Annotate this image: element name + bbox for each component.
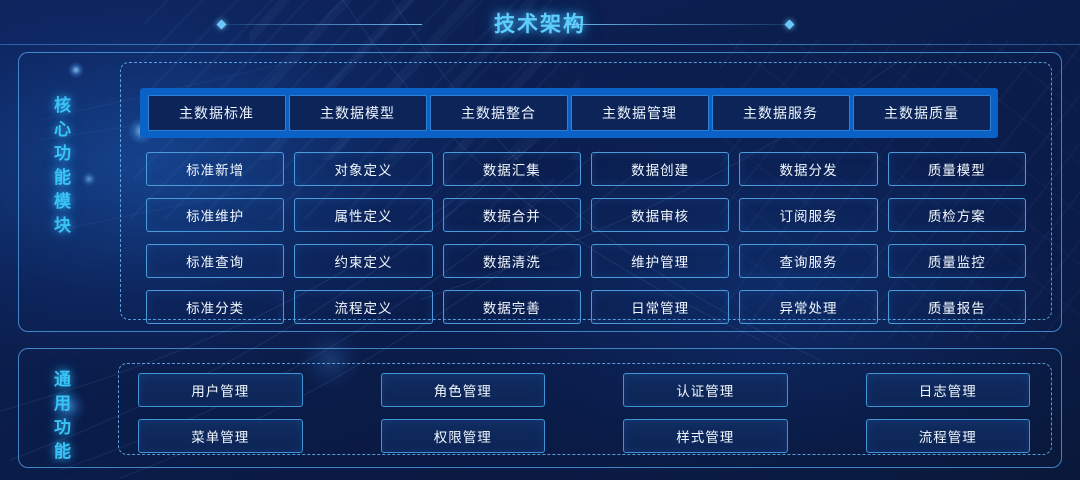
master-cell-wrap: 主数据管理 bbox=[569, 95, 710, 131]
function-cell[interactable]: 数据分发 bbox=[739, 152, 877, 186]
page-title: 技术架构 bbox=[494, 8, 586, 38]
master-cell-wrap: 主数据整合 bbox=[428, 95, 569, 131]
function-cell[interactable]: 属性定义 bbox=[294, 198, 432, 232]
core-functions-label: 核心功能模块 bbox=[52, 96, 69, 240]
function-cell[interactable]: 数据审核 bbox=[591, 198, 729, 232]
master-cell-wrap: 主数据服务 bbox=[710, 95, 851, 131]
function-cell[interactable]: 对象定义 bbox=[294, 152, 432, 186]
master-cell-wrap: 主数据模型 bbox=[287, 95, 428, 131]
title-dot-left bbox=[217, 20, 227, 30]
title-dot-right bbox=[785, 20, 795, 30]
header-divider bbox=[0, 44, 1080, 45]
function-cell[interactable]: 质量模型 bbox=[888, 152, 1026, 186]
function-cell[interactable]: 标准分类 bbox=[146, 290, 284, 324]
general-cell[interactable]: 菜单管理 bbox=[138, 419, 303, 453]
function-cell[interactable]: 数据创建 bbox=[591, 152, 729, 186]
master-data-bar: 主数据标准 主数据模型 主数据整合 主数据管理 主数据服务 主数据质量 bbox=[140, 88, 998, 138]
function-cell[interactable]: 质量监控 bbox=[888, 244, 1026, 278]
title-rule-right bbox=[566, 24, 788, 25]
function-cell[interactable]: 标准新增 bbox=[146, 152, 284, 186]
function-cell[interactable]: 数据完善 bbox=[443, 290, 581, 324]
function-cell[interactable]: 数据合并 bbox=[443, 198, 581, 232]
master-cell-quality[interactable]: 主数据质量 bbox=[853, 95, 991, 131]
master-cell-wrap: 主数据标准 bbox=[146, 95, 287, 131]
function-cell[interactable]: 订阅服务 bbox=[739, 198, 877, 232]
diagram-header: 技术架构 bbox=[0, 0, 1080, 45]
function-cell[interactable]: 数据清洗 bbox=[443, 244, 581, 278]
master-cell-management[interactable]: 主数据管理 bbox=[571, 95, 709, 131]
master-cell-integration[interactable]: 主数据整合 bbox=[430, 95, 568, 131]
technical-architecture-diagram: 技术架构 核心功能模块 主数据标准 主数据模型 主数据整合 主数据管理 主数据服… bbox=[0, 0, 1080, 480]
general-functions-label: 通用功能 bbox=[52, 370, 69, 466]
general-cell[interactable]: 流程管理 bbox=[866, 419, 1031, 453]
core-functions-grid: 标准新增 对象定义 数据汇集 数据创建 数据分发 质量模型 标准维护 属性定义 … bbox=[146, 152, 1026, 324]
function-cell[interactable]: 维护管理 bbox=[591, 244, 729, 278]
title-rule-left bbox=[222, 24, 422, 25]
master-cell-model[interactable]: 主数据模型 bbox=[289, 95, 427, 131]
function-cell[interactable]: 标准维护 bbox=[146, 198, 284, 232]
general-cell[interactable]: 角色管理 bbox=[381, 373, 546, 407]
function-cell[interactable]: 约束定义 bbox=[294, 244, 432, 278]
general-cell[interactable]: 样式管理 bbox=[623, 419, 788, 453]
general-cell[interactable]: 用户管理 bbox=[138, 373, 303, 407]
function-cell[interactable]: 标准查询 bbox=[146, 244, 284, 278]
general-cell[interactable]: 认证管理 bbox=[623, 373, 788, 407]
function-cell[interactable]: 质量报告 bbox=[888, 290, 1026, 324]
function-cell[interactable]: 数据汇集 bbox=[443, 152, 581, 186]
master-cell-standard[interactable]: 主数据标准 bbox=[148, 95, 286, 131]
general-cell[interactable]: 权限管理 bbox=[381, 419, 546, 453]
function-cell[interactable]: 异常处理 bbox=[739, 290, 877, 324]
function-cell[interactable]: 质检方案 bbox=[888, 198, 1026, 232]
function-cell[interactable]: 查询服务 bbox=[739, 244, 877, 278]
function-cell[interactable]: 流程定义 bbox=[294, 290, 432, 324]
master-cell-wrap: 主数据质量 bbox=[851, 95, 992, 131]
general-cell[interactable]: 日志管理 bbox=[866, 373, 1031, 407]
general-functions-grid: 用户管理 角色管理 认证管理 日志管理 菜单管理 权限管理 样式管理 流程管理 bbox=[138, 373, 1030, 453]
function-cell[interactable]: 日常管理 bbox=[591, 290, 729, 324]
master-cell-service[interactable]: 主数据服务 bbox=[712, 95, 850, 131]
